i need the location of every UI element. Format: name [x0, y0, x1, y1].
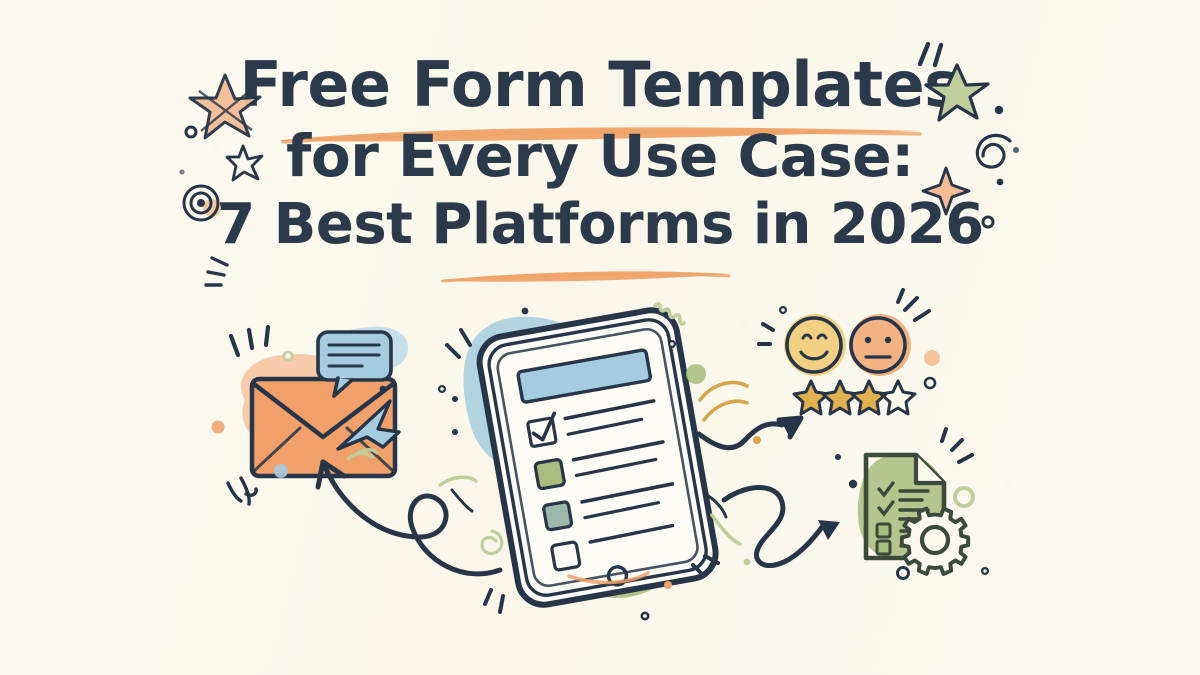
sparkle-four-point-icon — [923, 168, 969, 214]
star-orange-five-point-icon — [190, 75, 260, 138]
spiral-swirl-icon — [977, 135, 1010, 167]
dot-small-left — [186, 127, 196, 137]
tick-marks-top-right — [920, 44, 941, 65]
left-tick-marks — [206, 258, 227, 285]
spiral-target-icon — [184, 186, 221, 220]
poster-canvas: Free Form Templates for Every Use Case: … — [0, 0, 1200, 675]
star-outline-small-icon — [227, 146, 262, 180]
decoration-layer — [0, 0, 1200, 675]
headline-misc-dots — [179, 147, 1019, 175]
star-green-five-point-icon — [926, 65, 988, 120]
